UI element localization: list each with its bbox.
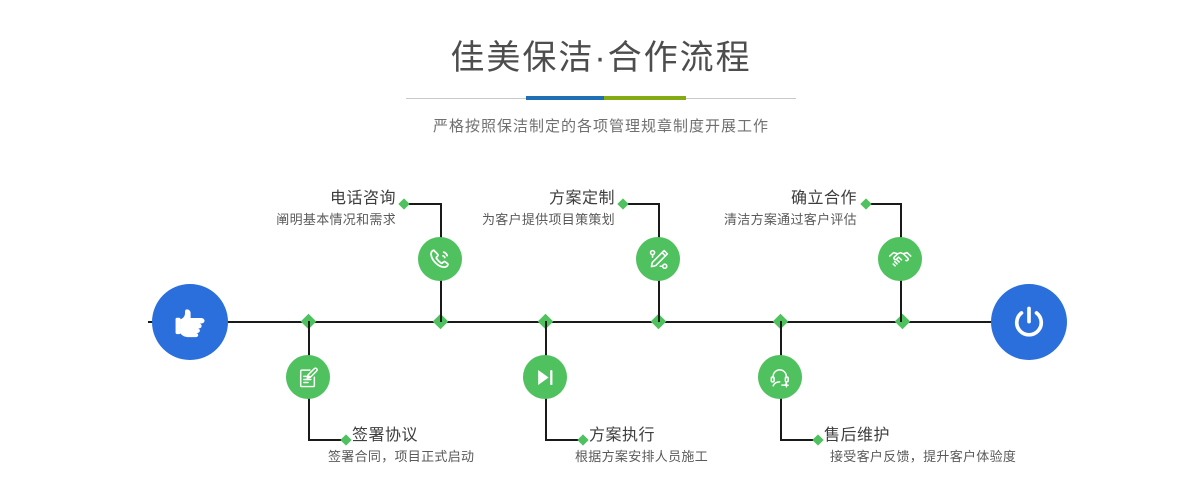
power-icon [1008, 301, 1050, 343]
step-desc: 签署合同，项目正式启动 [328, 447, 612, 467]
step-icon-sign-agreement[interactable] [286, 355, 330, 399]
connector-tip-dot [860, 198, 871, 209]
step-label-after-sales: 售后维护 接受客户反馈，提升客户体验度 [824, 425, 1124, 467]
step-desc: 清洁方案通过客户评估 [645, 210, 857, 230]
headset-support-icon [768, 365, 793, 390]
phone-call-icon [427, 246, 453, 272]
connector-tip-dot [617, 198, 628, 209]
step-icon-plan-execute[interactable] [523, 355, 567, 399]
step-icon-phone-consult[interactable] [418, 237, 462, 281]
step-desc: 阐明基本情况和需求 [180, 210, 396, 230]
step-label-establish-coop: 确立合作 清洁方案通过客户评估 [645, 188, 857, 230]
step-icon-establish-coop[interactable] [878, 237, 922, 281]
step-title: 电话咨询 [180, 188, 396, 210]
step-title: 售后维护 [824, 425, 1124, 447]
step-icon-plan-custom[interactable] [636, 237, 680, 281]
step-desc: 接受客户反馈，提升客户体验度 [830, 447, 1124, 467]
step-label-sign-agreement: 签署协议 签署合同，项目正式启动 [352, 425, 612, 467]
step-title: 方案执行 [589, 425, 849, 447]
step-label-phone-consult: 电话咨询 阐明基本情况和需求 [180, 188, 396, 230]
timeline-start-node[interactable] [152, 284, 228, 360]
step-label-plan-custom: 方案定制 为客户提供项目策策划 [400, 188, 615, 230]
timeline-axis [148, 321, 1054, 323]
step-desc: 根据方案安排人员施工 [575, 447, 849, 467]
step-label-plan-execute: 方案执行 根据方案安排人员施工 [589, 425, 849, 467]
infographic-canvas: 佳美保洁·合作流程 严格按照保洁制定的各项管理规章制度开展工作 [0, 0, 1202, 502]
step-desc: 为客户提供项目策策划 [400, 210, 615, 230]
handshake-icon [887, 246, 913, 272]
step-title: 确立合作 [645, 188, 857, 210]
play-execute-icon [533, 365, 558, 390]
step-icon-after-sales[interactable] [758, 355, 802, 399]
step-title: 方案定制 [400, 188, 615, 210]
connector-tip-dot [340, 434, 351, 445]
document-edit-icon [296, 365, 321, 390]
process-timeline: 电话咨询 阐明基本情况和需求 签署协议 签署合同，项目正式启动 [0, 0, 1202, 502]
pencil-design-icon [646, 247, 671, 272]
timeline-end-node[interactable] [991, 284, 1067, 360]
pointing-hand-icon [169, 301, 211, 343]
step-title: 签署协议 [352, 425, 612, 447]
axis-marker-diamond [895, 314, 911, 330]
